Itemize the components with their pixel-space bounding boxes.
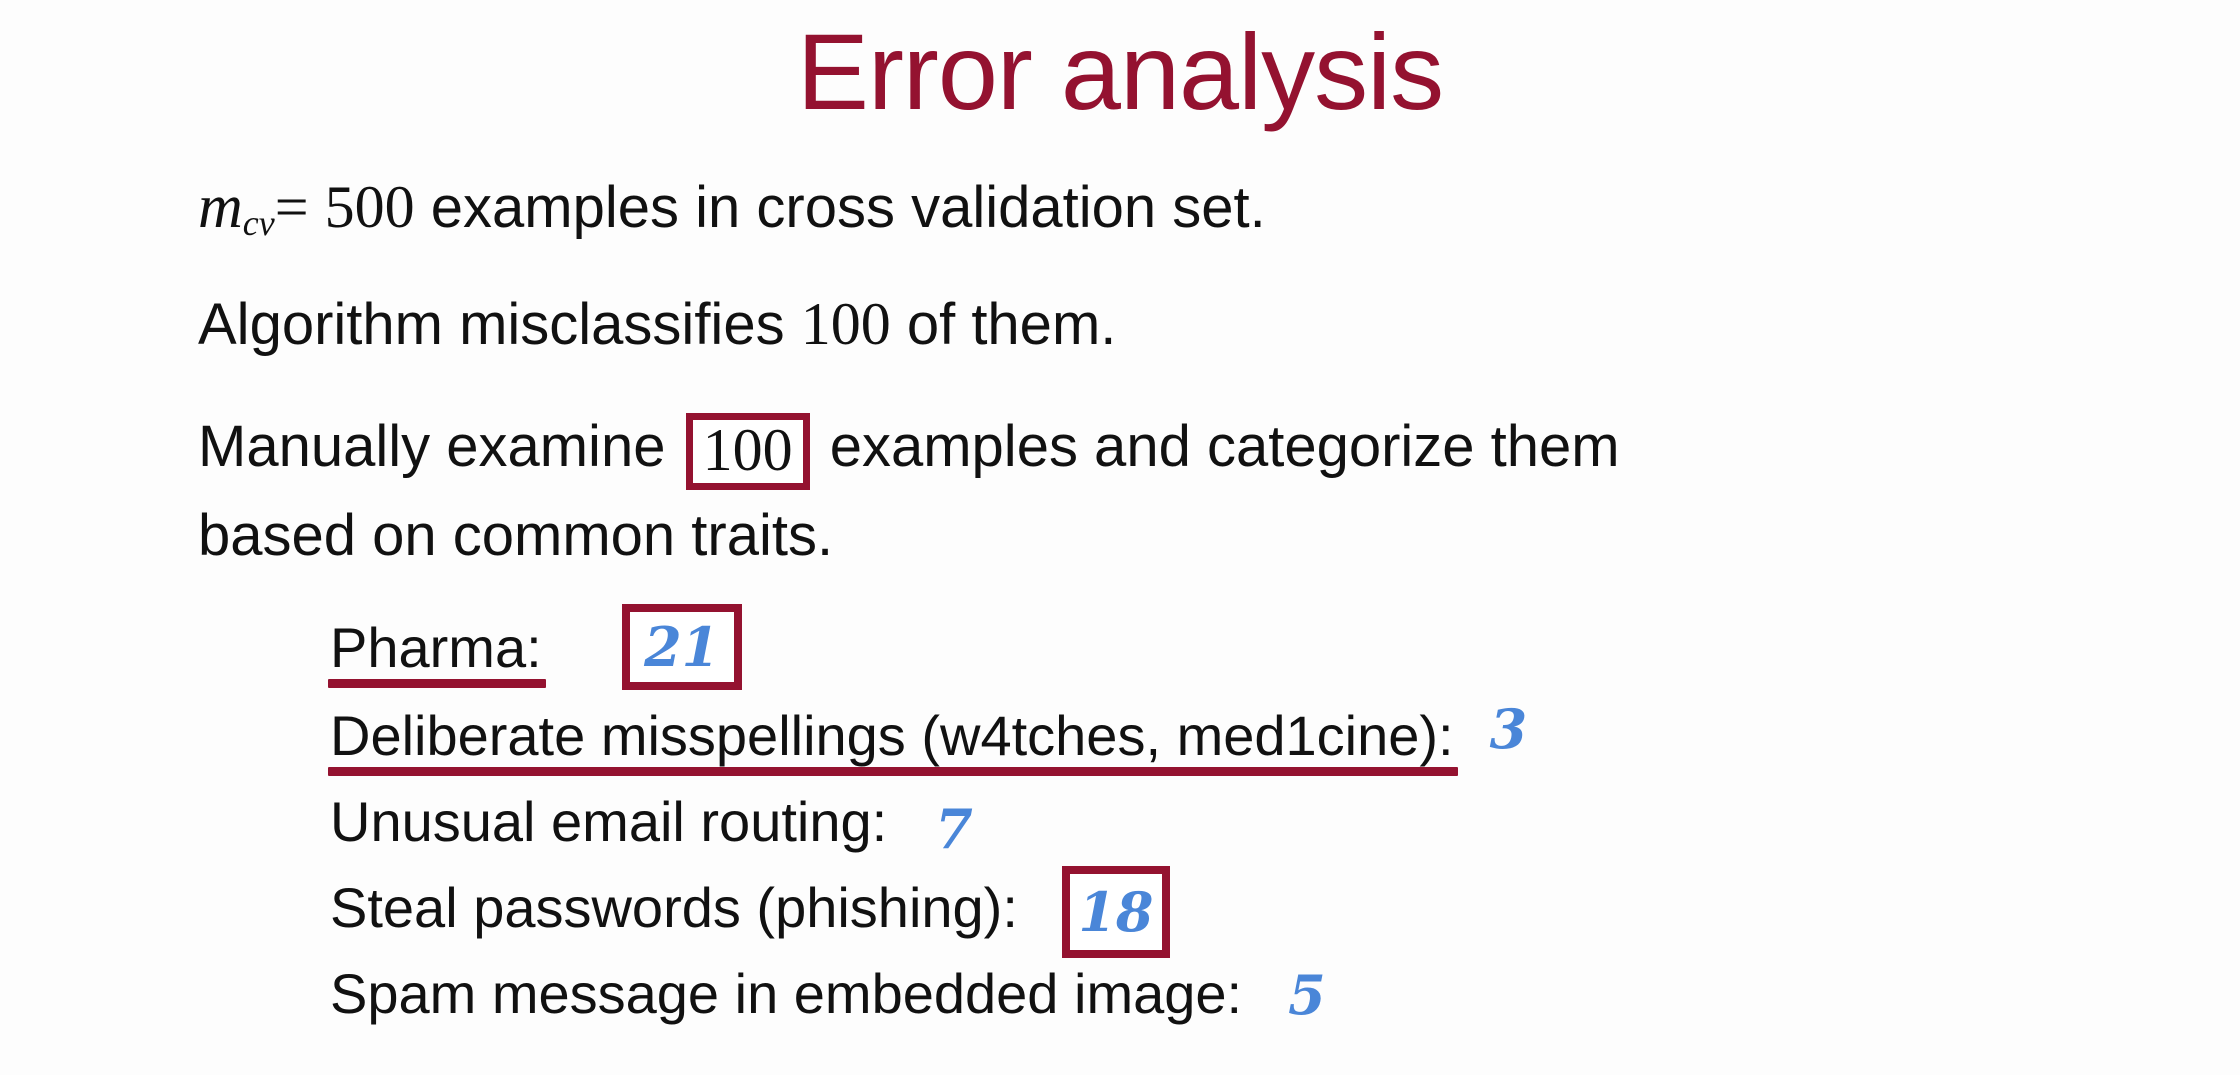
list-item: Deliberate misspellings (w4tches, med1ci… (330, 708, 2180, 788)
list-item: Steal passwords (phishing): 18 (330, 880, 2180, 960)
body-text-block: mcv= 500 examples in cross validation se… (198, 176, 2178, 565)
body-line-common-traits: based on common traits. (198, 506, 2178, 565)
category-label-embedded-image: Spam message in embedded image: (330, 966, 1242, 1028)
cv-example-count: 500 (325, 174, 415, 240)
misclassify-suffix: of them. (907, 292, 1117, 357)
category-count-pharma: 21 (644, 620, 719, 674)
body-line-cv-examples: mcv= 500 examples in cross validation se… (198, 176, 2178, 242)
error-category-list: Pharma: 21 Deliberate misspellings (w4tc… (330, 620, 2180, 1046)
page-title: Error analysis (0, 8, 2240, 135)
category-count-box-pharma: 21 (622, 604, 742, 690)
cv-line-text: examples in cross validation set. (431, 175, 1266, 240)
list-item: Pharma: 21 (330, 620, 2180, 700)
body-line-misclassified: Algorithm misclassifies 100 of them. (198, 294, 2178, 355)
category-label-misspellings: Deliberate misspellings (w4tches, med1ci… (330, 708, 1454, 770)
category-count-phishing: 18 (1078, 885, 1153, 939)
misclassify-prefix: Algorithm misclassifies (198, 292, 785, 357)
category-count-box-phishing: 18 (1062, 866, 1170, 958)
slide-canvas: Error analysis mcv= 500 examples in cros… (0, 0, 2240, 1075)
list-item: Unusual email routing: 7 (330, 794, 2180, 874)
list-item: Spam message in embedded image: 5 (330, 966, 2180, 1046)
category-count-email-routing: 7 (935, 802, 973, 856)
category-count-misspellings: 3 (1490, 702, 1528, 756)
equals-sign: = (275, 174, 309, 240)
category-label-email-routing: Unusual email routing: (330, 794, 887, 856)
manual-examine-prefix: Manually examine (198, 414, 665, 479)
category-count-embedded-image: 5 (1288, 968, 1326, 1022)
body-line-manual-examine: Manually examine 100 examples and catego… (198, 409, 2178, 486)
misclassified-count: 100 (801, 291, 891, 357)
category-label-pharma: Pharma: (330, 620, 542, 682)
category-label-phishing: Steal passwords (phishing): (330, 880, 1018, 942)
math-subscript-cv: cv (243, 203, 275, 243)
manual-examine-suffix: examples and categorize them (830, 414, 1620, 479)
boxed-example-count: 100 (686, 413, 810, 490)
math-variable-mcv: mcv (198, 173, 275, 241)
